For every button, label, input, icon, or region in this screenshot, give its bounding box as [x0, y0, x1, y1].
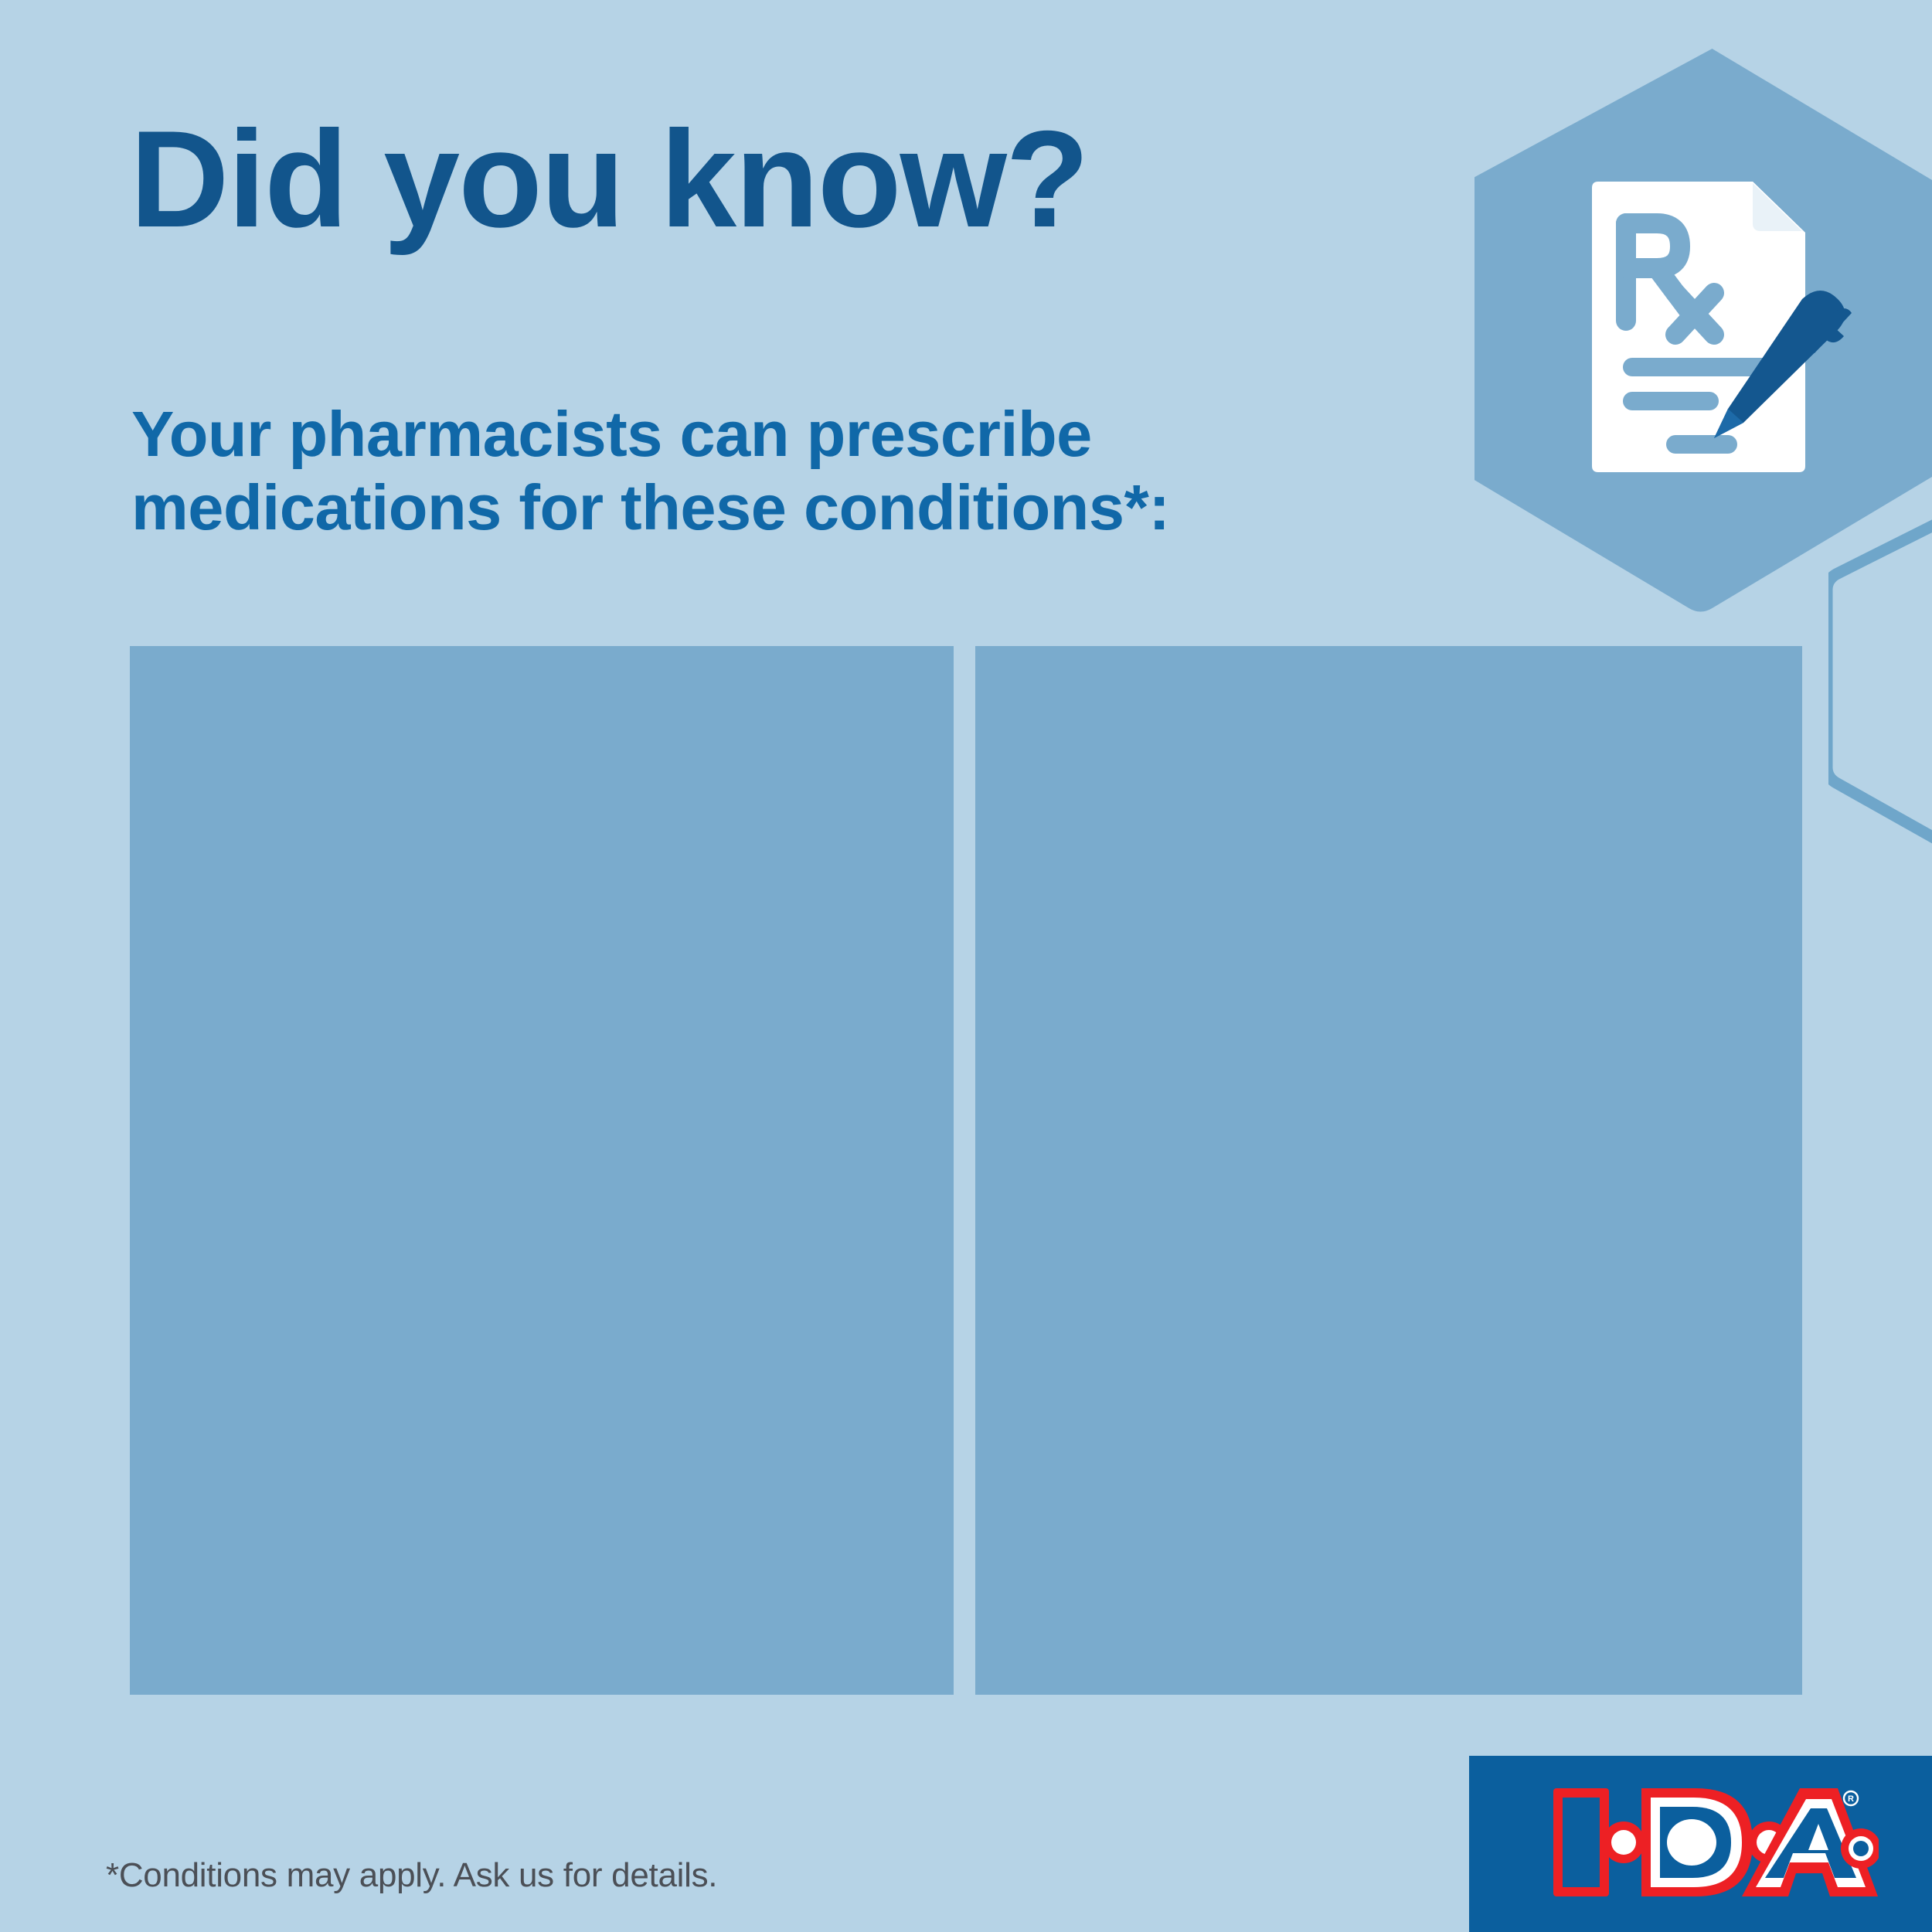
poster-canvas: Did you know? Your pharmacists can presc… — [0, 0, 1932, 1932]
registered-trademark-icon: R — [1844, 1791, 1858, 1805]
conditions-list-left — [130, 646, 954, 1695]
subtitle-line-1: Your pharmacists can prescribe — [131, 398, 1169, 471]
brand-logo-panel: R — [1469, 1756, 1932, 1932]
subtitle-line-2: medications for these conditions*: — [131, 471, 1169, 545]
svg-text:R: R — [1848, 1794, 1854, 1804]
footnote-disclaimer: *Conditions may apply. Ask us for detail… — [106, 1855, 717, 1896]
page-title: Did you know? — [130, 111, 1088, 248]
conditions-list-right — [975, 646, 1802, 1695]
hexagon-badge-outline — [1828, 478, 1932, 879]
conditions-panels — [130, 646, 1802, 1695]
page-subtitle: Your pharmacists can prescribe medicatio… — [131, 398, 1169, 544]
ida-logo-icon: R — [1550, 1784, 1879, 1901]
